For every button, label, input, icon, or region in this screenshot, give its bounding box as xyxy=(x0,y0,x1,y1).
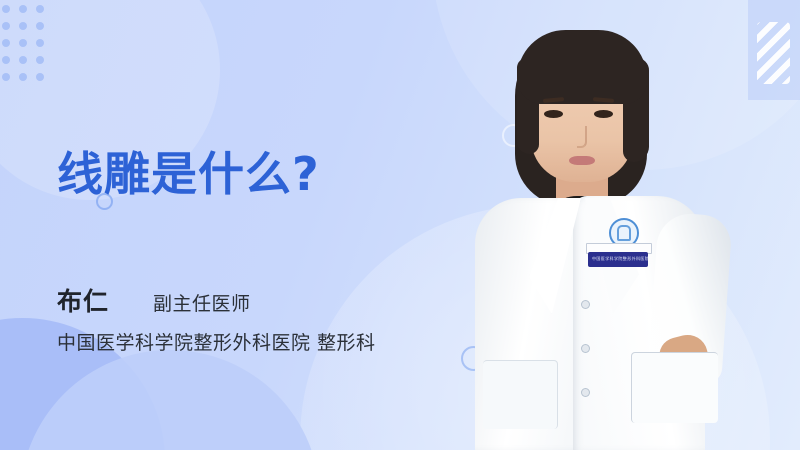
diagonal-stripes-icon xyxy=(757,22,790,84)
doctor-professional-title: 副主任医师 xyxy=(153,289,251,316)
doctor-name: 布仁 xyxy=(57,282,109,318)
grid-dot xyxy=(36,5,44,13)
eye-right xyxy=(594,110,613,118)
mouth xyxy=(569,156,595,165)
nose xyxy=(577,126,587,148)
hair-front xyxy=(517,30,647,104)
grid-dot xyxy=(2,22,10,30)
grid-dot xyxy=(2,39,10,47)
grid-dot xyxy=(2,56,10,64)
coat-button xyxy=(581,388,590,397)
doctor-hospital-department: 中国医学科学院整形外科医院 整形科 xyxy=(57,328,376,355)
grid-dot xyxy=(36,22,44,30)
coat-name-badge: 中国医学科学院整形外科医院 xyxy=(588,252,648,267)
grid-dot xyxy=(19,73,27,81)
grid-dot xyxy=(2,5,10,13)
doctor-portrait-photo: 中国医学科学院整形外科医院 xyxy=(455,0,755,450)
grid-dot xyxy=(19,5,27,13)
doctor-identity-line: 布仁 副主任医师 xyxy=(57,282,251,318)
coat-name-badge-text: 中国医学科学院整形外科医院 xyxy=(592,256,648,262)
video-cover-canvas: 中国医学科学院整形外科医院 线雕是什么? 布仁 副主任医师 中国医学科学院整形外… xyxy=(0,0,800,450)
page-title: 线雕是什么? xyxy=(57,138,320,204)
dot-grid-decoration xyxy=(2,5,53,90)
grid-dot xyxy=(36,39,44,47)
grid-dot xyxy=(2,73,10,81)
grid-dot xyxy=(36,56,44,64)
grid-dot xyxy=(19,39,27,47)
grid-dot xyxy=(19,22,27,30)
coat-pocket-left xyxy=(483,360,558,429)
grid-dot xyxy=(19,56,27,64)
coat-pocket-right xyxy=(631,352,718,423)
grid-dot xyxy=(36,73,44,81)
eye-left xyxy=(544,110,563,118)
coat-button xyxy=(581,300,590,309)
coat-button xyxy=(581,344,590,353)
